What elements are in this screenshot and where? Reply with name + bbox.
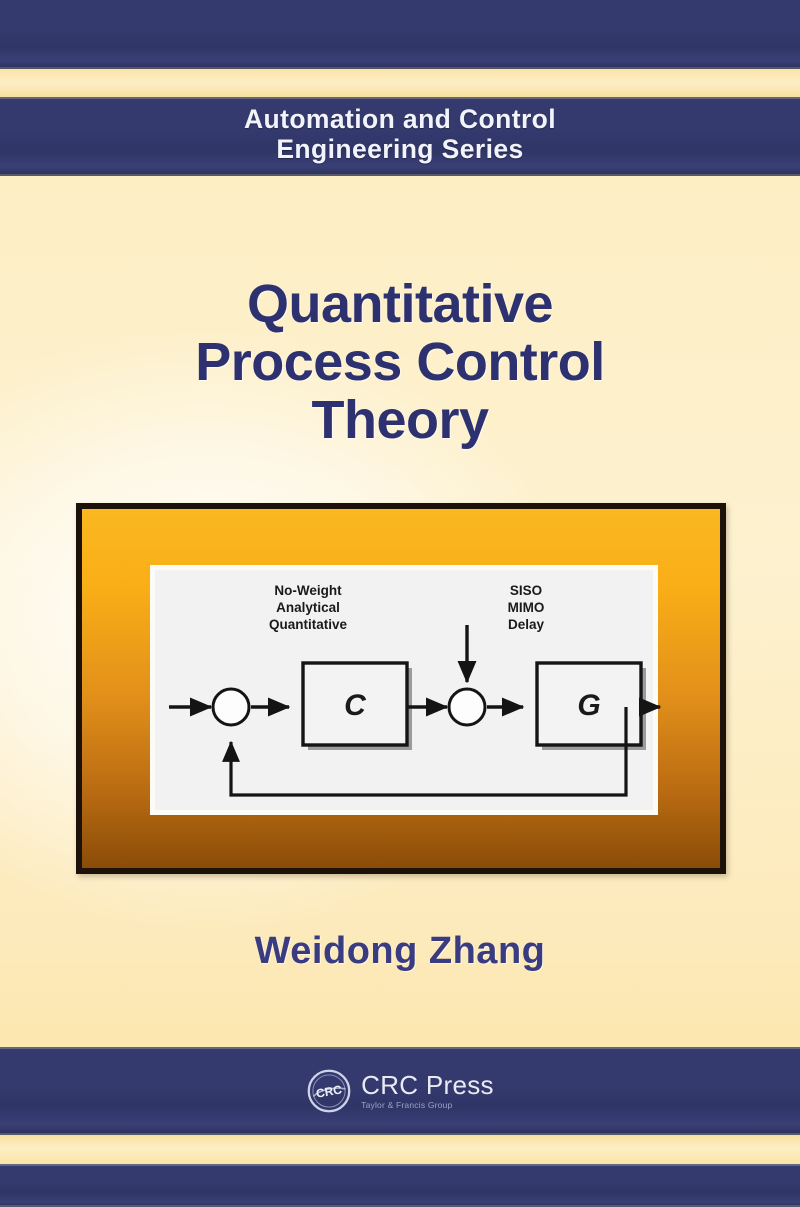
diagram-panel: No-Weight Analytical Quantitative SISO M…: [150, 565, 658, 815]
book-title-line3: Theory: [0, 391, 800, 449]
book-title-line2: Process Control: [0, 333, 800, 391]
disturbance-summing-junction: [449, 689, 485, 725]
book-cover: Automation and Control Engineering Serie…: [0, 0, 800, 1207]
controller-block-label: C: [344, 689, 367, 722]
series-title-line2: Engineering Series: [0, 134, 800, 164]
top-cream-strip: [0, 69, 800, 97]
publisher-name: CRC Press: [361, 1072, 494, 1098]
svg-text:CRC: CRC: [315, 1082, 343, 1100]
control-block-diagram: C G: [155, 570, 663, 820]
publisher-logo-block: CRC CRC Press Taylor & Francis Group: [0, 1058, 800, 1124]
plant-block-label: G: [577, 689, 600, 722]
error-summing-junction: [213, 689, 249, 725]
publisher-imprint: Taylor & Francis Group: [361, 1101, 494, 1110]
series-title-line1: Automation and Control: [0, 104, 800, 134]
bottom-navy-band: [0, 1164, 800, 1207]
diagram-frame: No-Weight Analytical Quantitative SISO M…: [76, 503, 726, 874]
book-title: Quantitative Process Control Theory: [0, 275, 800, 449]
bottom-cream-strip: [0, 1135, 800, 1164]
book-title-line1: Quantitative: [0, 275, 800, 333]
author-name: Weidong Zhang: [0, 930, 800, 973]
crc-circle-logo-icon: CRC: [306, 1068, 352, 1114]
publisher-text: CRC Press Taylor & Francis Group: [361, 1072, 494, 1110]
top-navy-band: [0, 0, 800, 69]
series-title: Automation and Control Engineering Serie…: [0, 104, 800, 164]
